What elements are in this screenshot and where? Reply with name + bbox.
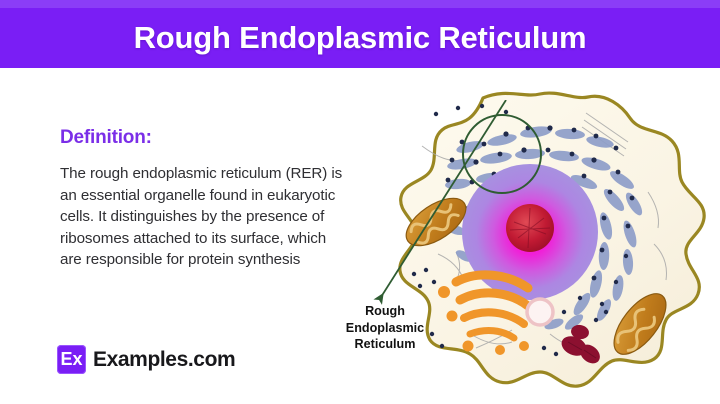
poster-root: Rough Endoplasmic Reticulum Definition: … [0, 0, 720, 404]
examples-logo[interactable]: Ex Examples.com [57, 345, 235, 374]
definition-heading: Definition: [60, 127, 152, 149]
vacuole-icon [527, 299, 553, 325]
definition-body: The rough endoplasmic reticulum (RER) is… [60, 163, 350, 271]
page-title: Rough Endoplasmic Reticulum [134, 20, 587, 56]
logo-badge-icon: Ex [57, 345, 86, 374]
header-banner: Rough Endoplasmic Reticulum [0, 8, 720, 68]
logo-brand-text: Examples.com [93, 348, 235, 372]
banner-top-strip [0, 0, 720, 8]
nucleus-icon [462, 164, 598, 300]
cell-diagram [378, 84, 720, 396]
